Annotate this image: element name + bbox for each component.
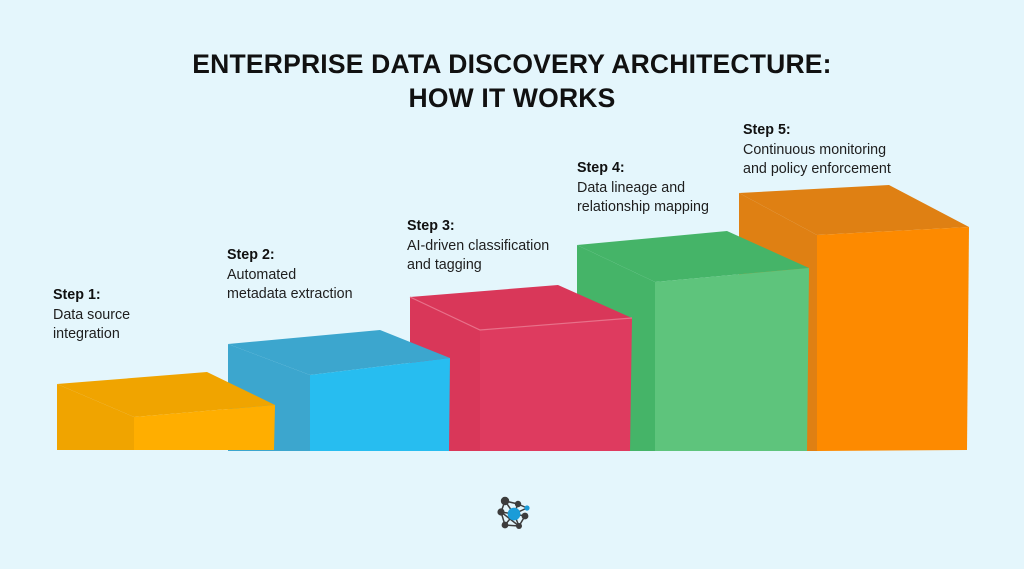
label-step-3-line-1: AI-driven classification (407, 237, 549, 256)
label-step-2-line-2: metadata extraction (227, 285, 353, 304)
bar-step-4-front-face (655, 268, 809, 451)
label-step-2-line-1: Automated (227, 266, 353, 285)
label-step-5-head: Step 5: (743, 121, 891, 140)
label-step-4: Step 4: Data lineage and relationship ma… (577, 159, 709, 217)
label-step-4-line-2: relationship mapping (577, 198, 709, 217)
label-step-1-body: Data source integration (53, 306, 130, 344)
label-step-3-line-2: and tagging (407, 256, 549, 275)
network-nodes-logo-icon (492, 492, 536, 536)
label-step-5-line-1: Continuous monitoring (743, 141, 891, 160)
label-step-2: Step 2: Automated metadata extraction (227, 246, 353, 304)
label-step-5-line-2: and policy enforcement (743, 160, 891, 179)
bar-step-1-shape (57, 372, 275, 454)
label-step-1-line-1: Data source (53, 306, 130, 325)
label-step-1: Step 1: Data source integration (53, 286, 130, 344)
label-step-5: Step 5: Continuous monitoring and policy… (743, 121, 891, 179)
infographic-canvas: ENTERPRISE DATA DISCOVERY ARCHITECTURE: … (0, 0, 1024, 569)
bar-chart-stage (0, 0, 1024, 569)
label-step-3-head: Step 3: (407, 217, 549, 236)
label-step-3-body: AI-driven classification and tagging (407, 237, 549, 275)
label-step-4-body: Data lineage and relationship mapping (577, 179, 709, 217)
bar-step-5-front-face (817, 227, 969, 451)
bar-step-1[interactable] (57, 372, 275, 454)
label-step-1-head: Step 1: (53, 286, 130, 305)
bar-step-3-front-face (480, 318, 632, 451)
label-step-2-head: Step 2: (227, 246, 353, 265)
label-step-2-body: Automated metadata extraction (227, 266, 353, 304)
label-step-4-head: Step 4: (577, 159, 709, 178)
label-step-5-body: Continuous monitoring and policy enforce… (743, 141, 891, 179)
label-step-1-line-2: integration (53, 325, 130, 344)
network-nodes-logo-svg (492, 492, 536, 536)
label-step-3: Step 3: AI-driven classification and tag… (407, 217, 549, 275)
label-step-4-line-1: Data lineage and (577, 179, 709, 198)
